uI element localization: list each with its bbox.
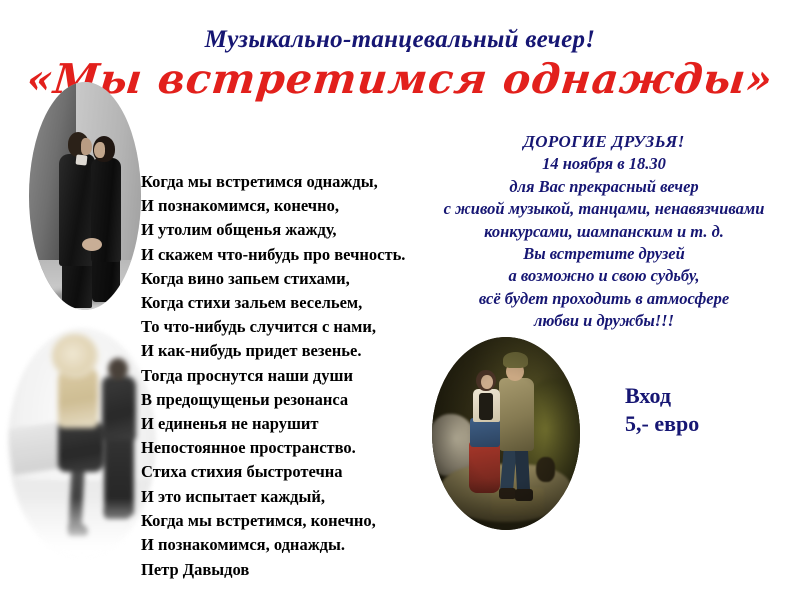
entry-price-block: Вход 5,- евро bbox=[625, 382, 699, 438]
dance-photo-fade bbox=[8, 498, 156, 558]
painting-vignette bbox=[432, 337, 580, 530]
poem-line: То что-нибудь случится с нами, bbox=[141, 315, 441, 339]
dance-photo-man-head bbox=[108, 358, 128, 380]
photo-woman-face bbox=[94, 142, 105, 158]
announcement-line: а возможно и свою судьбу, bbox=[408, 265, 800, 287]
dance-photo-man-body bbox=[102, 376, 136, 440]
entry-label: Вход bbox=[625, 382, 699, 410]
poem-line: И познакомимся, однажды. bbox=[141, 533, 441, 557]
announcement-line: 14 ноября в 18.30 bbox=[408, 153, 800, 175]
photo-man-face bbox=[81, 138, 92, 155]
announcement-line: для Вас прекрасный вечер bbox=[408, 176, 800, 198]
oval-painting bbox=[432, 337, 580, 530]
poem-line: И как-нибудь придет везенье. bbox=[141, 339, 441, 363]
poem-line: Тогда проснутся наши души bbox=[141, 364, 441, 388]
poem-line: В предощущеньи резонанса bbox=[141, 388, 441, 412]
poem-line: Когда мы встретимся, конечно, bbox=[141, 509, 441, 533]
poem-text: Когда мы встретимся однажды, И познакоми… bbox=[141, 170, 441, 582]
event-poster: Музыкально-танцевальный вечер! «Мы встре… bbox=[0, 0, 800, 600]
poem-line: Непостоянное пространство. bbox=[141, 436, 441, 460]
photo-man-collar bbox=[76, 154, 88, 165]
dancing-couple-photo bbox=[8, 328, 156, 558]
announcement-line: конкурсами, шампанским и т. д. bbox=[408, 221, 800, 243]
poem-line: Когда стихи зальем весельем, bbox=[141, 291, 441, 315]
dance-photo-woman-skirt bbox=[58, 422, 104, 472]
announcement-line: с живой музыкой, танцами, ненавязчивами bbox=[408, 198, 800, 220]
announcement-line: всё будет проходить в атмосфере bbox=[408, 288, 800, 310]
announcement-line: любви и дружбы!!! bbox=[408, 310, 800, 332]
announcement-line: Вы встретите друзей bbox=[408, 243, 800, 265]
poem-line: И скажем что-нибудь про вечность. bbox=[141, 243, 441, 267]
poem-line: И это испытает каждый, bbox=[141, 485, 441, 509]
poem-line: Когда вино запьем стихами, bbox=[141, 267, 441, 291]
poem-line: Когда мы встретимся однажды, bbox=[141, 170, 441, 194]
poem-author: Петр Давыдов bbox=[141, 557, 441, 582]
photo-hands bbox=[82, 238, 102, 251]
poem-line: И единенья не нарушит bbox=[141, 412, 441, 436]
dance-photo-woman-hair bbox=[52, 334, 98, 378]
poem-line: Стиха стихия быстротечна bbox=[141, 460, 441, 484]
announcement-line: ДОРОГИЕ ДРУЗЬЯ! bbox=[408, 131, 800, 153]
announcement-block: ДОРОГИЕ ДРУЗЬЯ! 14 ноября в 18.30 для Ва… bbox=[408, 131, 800, 333]
entry-price: 5,- евро bbox=[625, 410, 699, 438]
couple-photo bbox=[29, 82, 141, 310]
poem-line: И утолим общенья жажду, bbox=[141, 218, 441, 242]
poem-line: И познакомимся, конечно, bbox=[141, 194, 441, 218]
poster-title-main: Музыкально-танцевальный вечер! bbox=[0, 26, 800, 54]
